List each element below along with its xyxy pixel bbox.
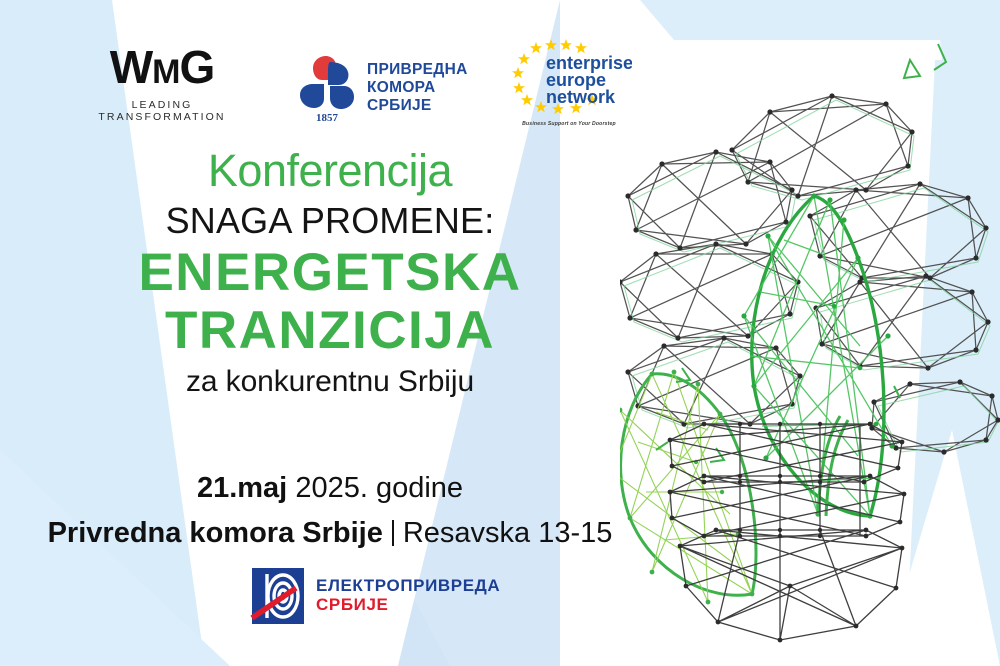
- eps-line-1: ЕЛЕКТРОПРИВРЕДА: [316, 577, 500, 596]
- event-date-day: 21.maj: [197, 472, 287, 504]
- event-venue-name: Privredna komora Srbije: [48, 517, 383, 549]
- wmg-letter-w: W: [110, 41, 152, 93]
- green-sparks: [656, 44, 946, 462]
- pks-wordmark: ПРИВРЕДНА КОМОРА СРБИЈЕ: [367, 61, 468, 115]
- event-date: 21.maj 2025. godine: [0, 470, 660, 508]
- headline-line-3: TRANZICIJA: [0, 303, 660, 359]
- event-details-block: 21.maj 2025. godine Privredna komora Srb…: [0, 470, 660, 553]
- banner-canvas: WMG LEADING TRANSFORMATION 1857 ПРИВРЕДН…: [0, 0, 1000, 666]
- wmg-letter-g: G: [179, 41, 214, 93]
- venue-divider: [392, 520, 394, 546]
- headline-line-1: SNAGA PROMENE:: [0, 199, 660, 243]
- wmg-tagline: LEADING TRANSFORMATION: [72, 99, 252, 123]
- wireframe-lightbulb-graphic: [620, 0, 1000, 666]
- een-emblem-icon: enterprise europe network: [506, 36, 632, 114]
- headline-subtitle: za konkurentnu Srbiju: [0, 364, 660, 400]
- pks-line-1: ПРИВРЕДНА: [367, 61, 468, 79]
- wmg-letter-m: M: [152, 53, 179, 91]
- headline-line-2: ENERGETSKA: [0, 245, 660, 301]
- headline-kicker: Konferencija: [0, 148, 660, 195]
- een-line-3: network: [546, 87, 616, 107]
- event-venue-address: Resavska 13-15: [403, 517, 613, 549]
- logo-pks[interactable]: 1857 ПРИВРЕДНА КОМОРА СРБИЈЕ: [296, 52, 468, 124]
- wmg-wordmark: WMG: [72, 44, 252, 90]
- logo-een[interactable]: enterprise europe network Business Suppo…: [506, 36, 632, 127]
- pks-emblem-icon: 1857: [296, 52, 358, 124]
- event-date-year: 2025. godine: [295, 472, 463, 504]
- event-venue: Privredna komora SrbijeResavska 13-15: [0, 514, 660, 553]
- headline-block: Konferencija SNAGA PROMENE: ENERGETSKA T…: [0, 148, 660, 400]
- logo-wmg[interactable]: WMG LEADING TRANSFORMATION: [72, 44, 252, 123]
- eps-line-2: СРБИЈЕ: [316, 596, 500, 615]
- pks-founded-year: 1857: [316, 112, 339, 124]
- eps-emblem-icon: [250, 566, 306, 626]
- logo-eps[interactable]: ЕЛЕКТРОПРИВРЕДА СРБИЈЕ: [250, 566, 500, 626]
- pks-line-3: СРБИЈЕ: [367, 97, 468, 115]
- pks-line-2: КОМОРА: [367, 79, 468, 97]
- bulb-spiral-tubes: [620, 96, 998, 452]
- een-tagline: Business Support on Your Doorstep: [506, 121, 632, 127]
- eps-wordmark: ЕЛЕКТРОПРИВРЕДА СРБИЈЕ: [316, 577, 500, 614]
